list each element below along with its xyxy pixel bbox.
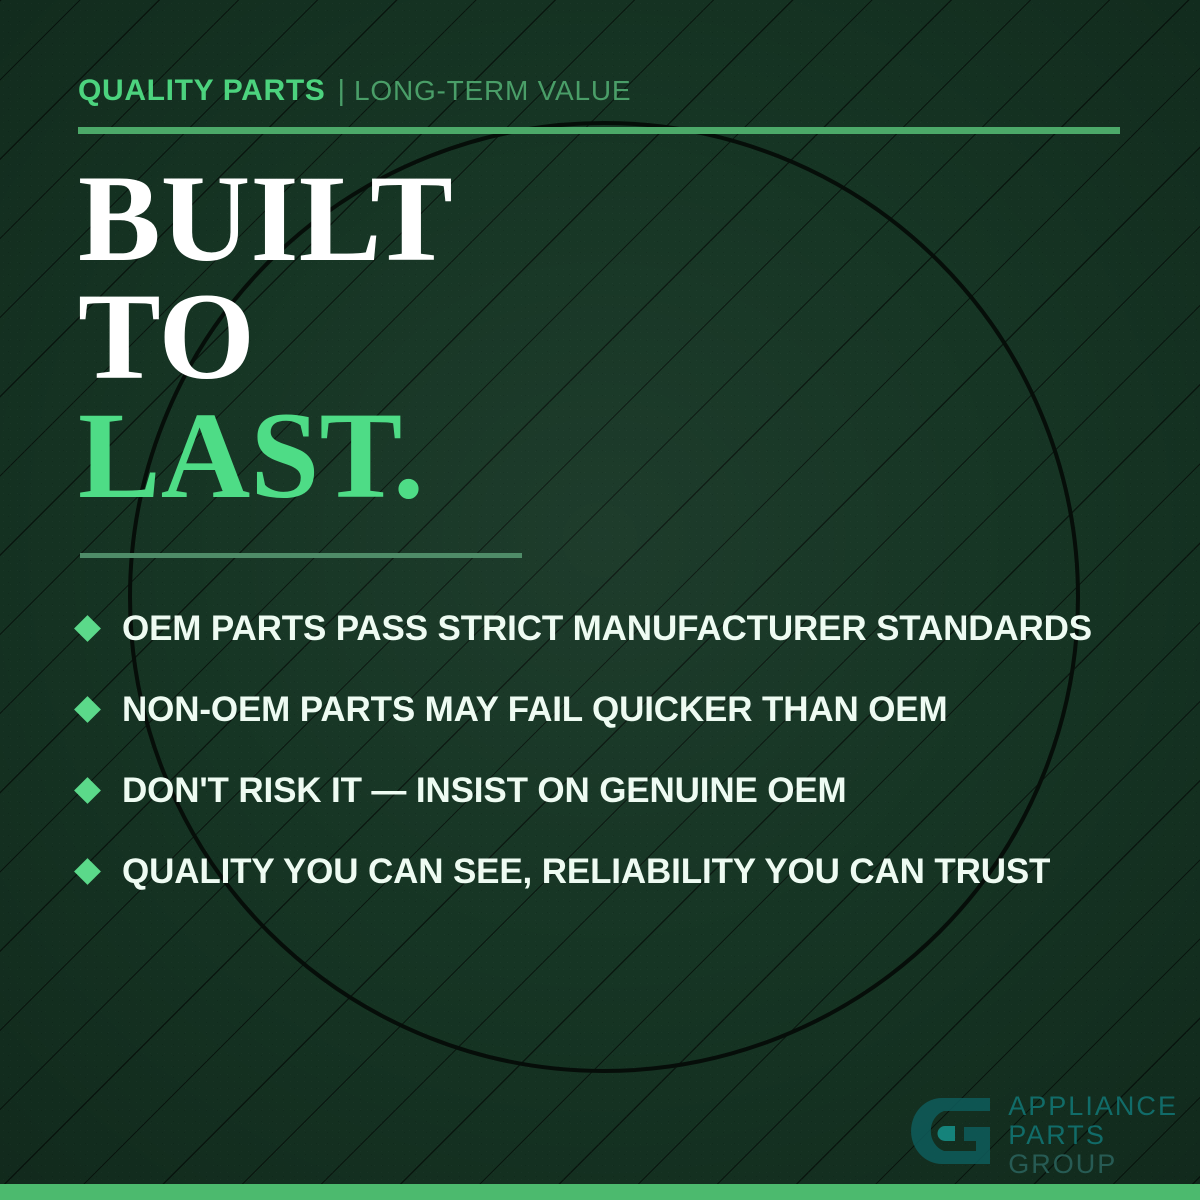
header-divider-rule [78, 127, 1120, 134]
logo-line-group: GROUP [1008, 1151, 1178, 1178]
kicker-separator: | [325, 75, 354, 108]
headline-divider-rule [80, 553, 522, 558]
brand-logo-wordmark: APPLIANCE PARTS GROUP [1008, 1093, 1178, 1178]
headline-line-2: TO [78, 278, 453, 396]
logo-line-parts: PARTS [1008, 1122, 1178, 1149]
diamond-bullet-icon [74, 696, 101, 723]
list-item-label: QUALITY YOU CAN SEE, RELIABILITY YOU CAN… [122, 852, 1050, 892]
list-item: QUALITY YOU CAN SEE, RELIABILITY YOU CAN… [78, 831, 1138, 912]
brand-logo: APPLIANCE PARTS GROUP [908, 1093, 1178, 1178]
promo-poster: QUALITY PARTS | LONG-TERM VALUE BUILT TO… [0, 0, 1200, 1200]
list-item: NON-OEM PARTS MAY FAIL QUICKER THAN OEM [78, 669, 1138, 750]
g-monogram-icon [908, 1093, 994, 1178]
headline-line-3: LAST. [78, 397, 453, 515]
benefits-list: OEM PARTS PASS STRICT MANUFACTURER STAND… [78, 588, 1138, 912]
list-item-label: OEM PARTS PASS STRICT MANUFACTURER STAND… [122, 609, 1092, 649]
diamond-bullet-icon [74, 777, 101, 804]
diamond-bullet-icon [74, 858, 101, 885]
kicker-sub-label: LONG-TERM VALUE [354, 75, 631, 107]
list-item: OEM PARTS PASS STRICT MANUFACTURER STAND… [78, 588, 1138, 669]
logo-line-appliance: APPLIANCE [1008, 1093, 1178, 1120]
kicker-main-label: QUALITY PARTS [78, 74, 325, 108]
headline-line-1: BUILT [78, 160, 453, 278]
headline-block: BUILT TO LAST. [78, 160, 453, 515]
bottom-accent-bar [0, 1184, 1200, 1200]
poster-content: QUALITY PARTS | LONG-TERM VALUE BUILT TO… [0, 0, 1200, 1200]
kicker-eyebrow: QUALITY PARTS | LONG-TERM VALUE [78, 74, 631, 108]
list-item-label: NON-OEM PARTS MAY FAIL QUICKER THAN OEM [122, 690, 948, 730]
list-item: DON'T RISK IT — INSIST ON GENUINE OEM [78, 750, 1138, 831]
diamond-bullet-icon [74, 615, 101, 642]
list-item-label: DON'T RISK IT — INSIST ON GENUINE OEM [122, 771, 847, 811]
